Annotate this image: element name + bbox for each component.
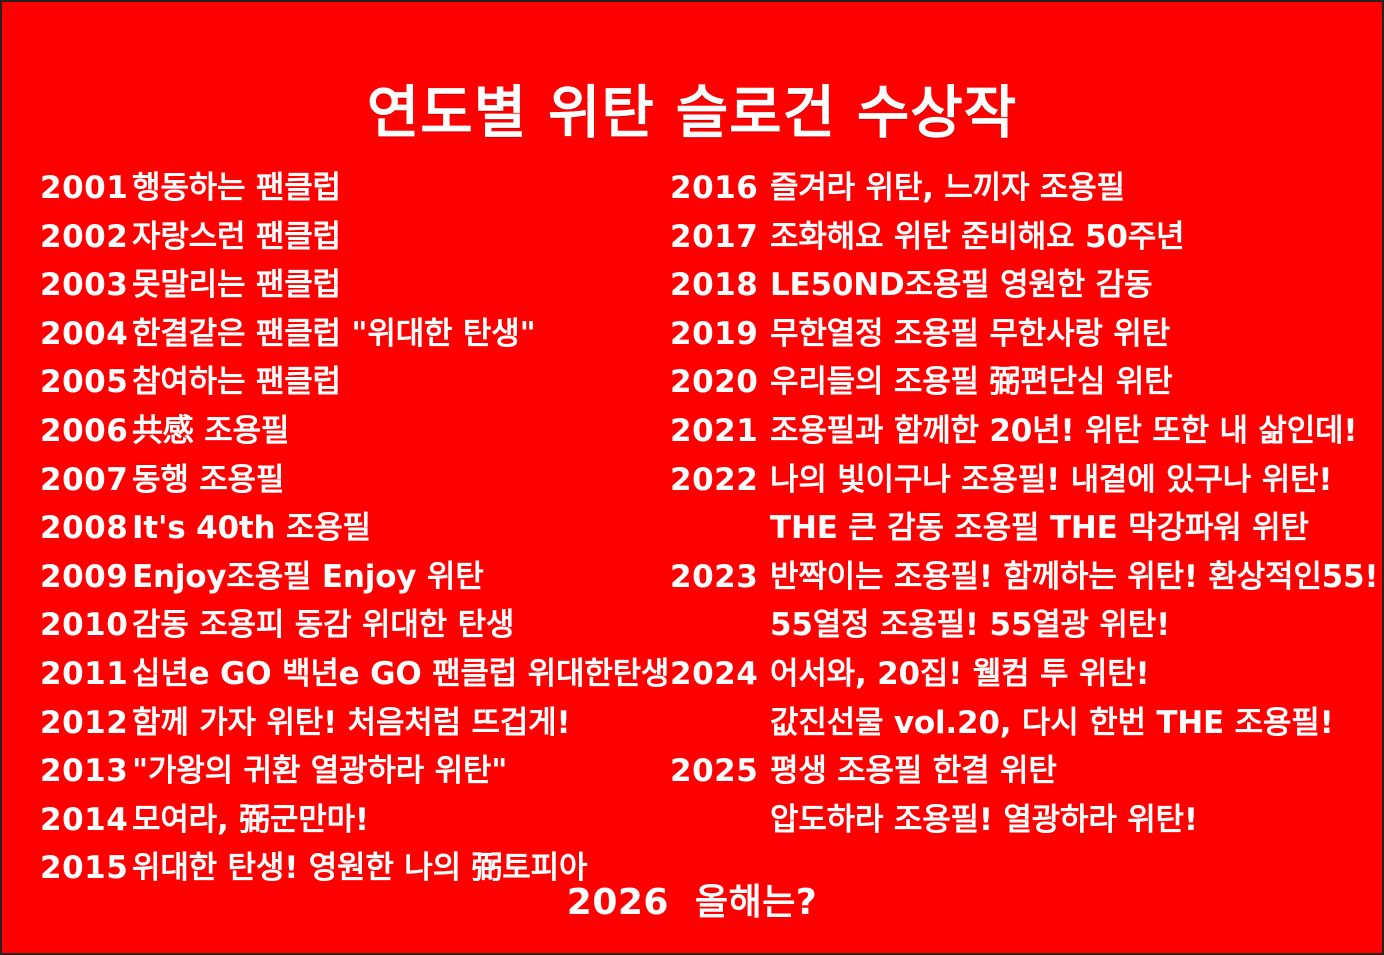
- slogan-row: 2013"가왕의 귀환 열광하라 위탄": [40, 745, 670, 794]
- slogan-row: 2012함께 가자 위탄! 처음처럼 뜨겁게!: [40, 697, 670, 746]
- slogan-year: 2009: [40, 559, 132, 595]
- slogan-row: 2003못말리는 팬클럽: [40, 259, 670, 308]
- slogan-year: 2021: [670, 413, 770, 449]
- slogan-year: 2012: [40, 705, 132, 741]
- slogan-row: 2023반짝이는 조용필! 함께하는 위탄! 환상적인55!: [670, 551, 1370, 600]
- footer-question-label: 올해는?: [695, 882, 817, 923]
- slogan-row: 2025평생 조용필 한결 위탄: [670, 745, 1370, 794]
- slogan-text: LE50ND조용필 영원한 감동: [770, 259, 1370, 304]
- slogan-row: 2008It's 40th 조용필: [40, 502, 670, 551]
- slogan-text: 감동 조용피 동감 위대한 탄생: [132, 599, 670, 644]
- slogan-text: "가왕의 귀환 열광하라 위탄": [132, 745, 670, 790]
- slogan-text: 55열정 조용필! 55열광 위탄!: [770, 599, 1370, 644]
- slogan-row: 2007동행 조용필: [40, 454, 670, 503]
- slogan-text: It's 40th 조용필: [132, 502, 670, 547]
- slogan-year: 2017: [670, 219, 770, 255]
- slogan-text: 참여하는 팬클럽: [132, 356, 670, 401]
- slogan-row: 2001행동하는 팬클럽: [40, 162, 670, 211]
- page-title: 연도별 위탄 슬로건 수상작: [2, 84, 1382, 144]
- slogan-text: 어서와, 20집! 웰컴 투 위탄!: [770, 648, 1370, 693]
- slogan-text: 압도하라 조용필! 열광하라 위탄!: [770, 794, 1370, 839]
- footer-current-year: 2026올해는?: [2, 873, 1382, 925]
- slogan-text: Enjoy조용필 Enjoy 위탄: [132, 551, 670, 596]
- footer-year-label: 2026: [567, 882, 669, 923]
- slogan-text: 우리들의 조용필 弼편단심 위탄: [770, 356, 1370, 401]
- slogan-row: 2014모여라, 弼군만마!: [40, 794, 670, 843]
- poster-canvas: 연도별 위탄 슬로건 수상작 2001행동하는 팬클럽2002자랑스런 팬클럽2…: [0, 0, 1384, 955]
- slogan-text: 평생 조용필 한결 위탄: [770, 745, 1370, 790]
- slogan-row: 55열정 조용필! 55열광 위탄!: [670, 599, 1370, 648]
- slogan-row: 2009Enjoy조용필 Enjoy 위탄: [40, 551, 670, 600]
- slogan-text: 한결같은 팬클럽 "위대한 탄생": [132, 308, 670, 353]
- slogan-row: 2006共感 조용필: [40, 405, 670, 454]
- slogan-text: 조용필과 함께한 20년! 위탄 또한 내 삶인데!: [770, 405, 1370, 450]
- slogan-year: 2016: [670, 170, 770, 206]
- slogan-row: 2017조화해요 위탄 준비해요 50주년: [670, 211, 1370, 260]
- slogan-row: 2002자랑스런 팬클럽: [40, 211, 670, 260]
- slogan-text: 못말리는 팬클럽: [132, 259, 670, 304]
- slogan-row: 2016즐겨라 위탄, 느끼자 조용필: [670, 162, 1370, 211]
- slogan-year: 2002: [40, 219, 132, 255]
- slogan-row: 2024어서와, 20집! 웰컴 투 위탄!: [670, 648, 1370, 697]
- slogan-row: 2010감동 조용피 동감 위대한 탄생: [40, 599, 670, 648]
- slogan-year: 2008: [40, 510, 132, 546]
- slogan-year: 2025: [670, 753, 770, 789]
- slogan-year: 2003: [40, 267, 132, 303]
- slogan-row: 값진선물 vol.20, 다시 한번 THE 조용필!: [670, 697, 1370, 746]
- slogan-row: 2011십년e GO 백년e GO 팬클럽 위대한탄생: [40, 648, 670, 697]
- slogan-year: 2022: [670, 462, 770, 498]
- slogan-text: 무한열정 조용필 무한사랑 위탄: [770, 308, 1370, 353]
- slogan-year: 2007: [40, 462, 132, 498]
- slogan-columns: 2001행동하는 팬클럽2002자랑스런 팬클럽2003못말리는 팬클럽2004…: [2, 162, 1382, 882]
- slogan-year: 2005: [40, 364, 132, 400]
- slogan-column-right: 2016즐겨라 위탄, 느끼자 조용필2017조화해요 위탄 준비해요 50주년…: [670, 162, 1370, 842]
- slogan-year: 2014: [40, 802, 132, 838]
- slogan-row: 2004한결같은 팬클럽 "위대한 탄생": [40, 308, 670, 357]
- slogan-text: 조화해요 위탄 준비해요 50주년: [770, 211, 1370, 256]
- slogan-row: 2021조용필과 함께한 20년! 위탄 또한 내 삶인데!: [670, 405, 1370, 454]
- slogan-text: 행동하는 팬클럽: [132, 162, 670, 207]
- slogan-text: 동행 조용필: [132, 454, 670, 499]
- slogan-year: 2004: [40, 316, 132, 352]
- slogan-year: 2020: [670, 364, 770, 400]
- slogan-column-left: 2001행동하는 팬클럽2002자랑스런 팬클럽2003못말리는 팬클럽2004…: [40, 162, 670, 891]
- slogan-text: 즐겨라 위탄, 느끼자 조용필: [770, 162, 1370, 207]
- slogan-year: 2001: [40, 170, 132, 206]
- slogan-year: 2023: [670, 559, 770, 595]
- slogan-text: 共感 조용필: [132, 405, 670, 450]
- slogan-row: 2022나의 빛이구나 조용필! 내곁에 있구나 위탄!: [670, 454, 1370, 503]
- slogan-year: 2011: [40, 656, 132, 692]
- slogan-year: 2010: [40, 607, 132, 643]
- slogan-row: THE 큰 감동 조용필 THE 막강파워 위탄: [670, 502, 1370, 551]
- slogan-year: 2006: [40, 413, 132, 449]
- slogan-text: 함께 가자 위탄! 처음처럼 뜨겁게!: [132, 697, 670, 742]
- slogan-row: 2020우리들의 조용필 弼편단심 위탄: [670, 356, 1370, 405]
- slogan-text: THE 큰 감동 조용필 THE 막강파워 위탄: [770, 502, 1370, 547]
- slogan-year: 2018: [670, 267, 770, 303]
- slogan-year: 2019: [670, 316, 770, 352]
- slogan-text: 반짝이는 조용필! 함께하는 위탄! 환상적인55!: [770, 551, 1378, 596]
- slogan-text: 자랑스런 팬클럽: [132, 211, 670, 256]
- slogan-year: 2024: [670, 656, 770, 692]
- slogan-row: 2018LE50ND조용필 영원한 감동: [670, 259, 1370, 308]
- slogan-row: 2019무한열정 조용필 무한사랑 위탄: [670, 308, 1370, 357]
- slogan-year: 2013: [40, 753, 132, 789]
- slogan-row: 2005참여하는 팬클럽: [40, 356, 670, 405]
- slogan-text: 모여라, 弼군만마!: [132, 794, 670, 839]
- slogan-text: 나의 빛이구나 조용필! 내곁에 있구나 위탄!: [770, 454, 1370, 499]
- slogan-text: 십년e GO 백년e GO 팬클럽 위대한탄생: [132, 648, 670, 693]
- slogan-row: 압도하라 조용필! 열광하라 위탄!: [670, 794, 1370, 843]
- slogan-text: 값진선물 vol.20, 다시 한번 THE 조용필!: [770, 697, 1370, 742]
